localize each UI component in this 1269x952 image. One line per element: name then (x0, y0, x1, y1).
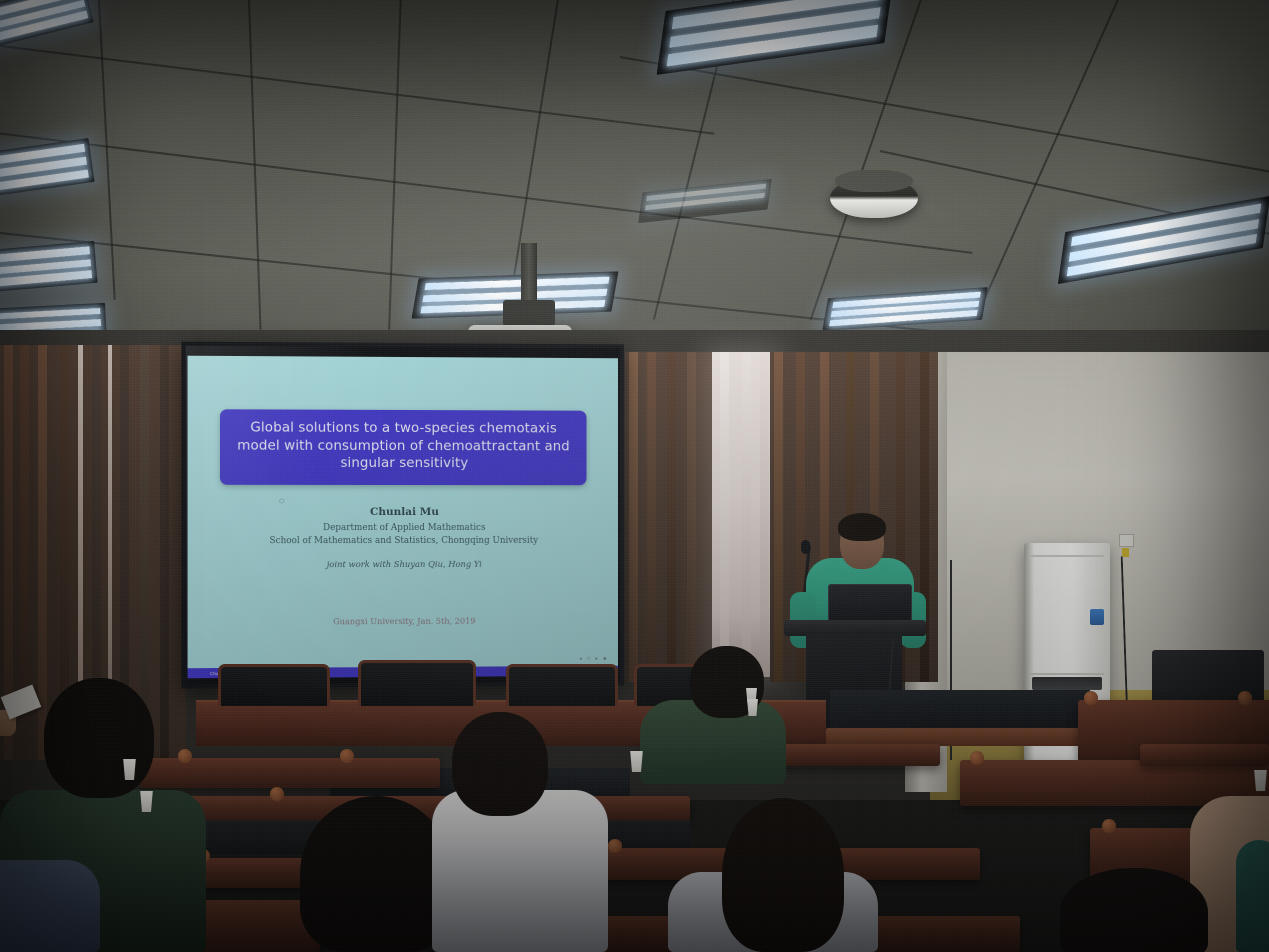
fluorescent-light-panel (0, 241, 98, 293)
fluorescent-light-panel (822, 287, 987, 331)
slide-title-box: Global solutions to a two-species chemot… (220, 409, 586, 485)
slide-navigation-bar: Introduction Main result Sketches of pro… (188, 356, 618, 359)
projection-screen: Introduction Main result Sketches of pro… (181, 342, 623, 689)
projector-mount-pole (521, 243, 537, 303)
bench-row[interactable] (1140, 744, 1269, 766)
fluorescent-light-panel (412, 271, 619, 318)
ceiling (0, 0, 1269, 372)
bench-row[interactable] (140, 758, 440, 788)
ceiling-speaker-dome (830, 178, 918, 218)
slide-affiliation-line-1: Department of Applied Mathematics (188, 522, 618, 535)
bench-row[interactable] (170, 796, 690, 822)
front-row-chair[interactable] (218, 664, 330, 706)
curtain-center (625, 352, 715, 682)
lecture-hall-photo: Introduction Main result Sketches of pro… (0, 0, 1269, 952)
slide-nav-dots[interactable]: ◂ □ ▸ ■ (579, 656, 608, 662)
microphone-icon (801, 540, 810, 554)
slide-title: Global solutions to a two-species chemot… (232, 419, 574, 473)
projector-mount-bracket (503, 300, 555, 326)
wall-power-outlet[interactable] (1119, 534, 1134, 547)
presentation-slide: Introduction Main result Sketches of pro… (188, 356, 618, 679)
slide-venue-date: Guangxi University, Jan. 5th, 2019 (188, 615, 618, 627)
fluorescent-light-panel (1058, 196, 1269, 284)
slide-affiliation-line-2: School of Mathematics and Statistics, Ch… (188, 534, 618, 547)
fluorescent-light-panel (657, 0, 894, 75)
slide-joint-work: joint work with Shuyan Qiu, Hong Yi (188, 559, 618, 570)
slide-author-name: Chunlai Mu (188, 506, 618, 518)
curtain-sheer-window (712, 352, 774, 677)
presenter-hair (838, 513, 886, 541)
nav-bar-accent (456, 356, 618, 359)
fluorescent-light-panel (0, 0, 93, 49)
fluorescent-light-panel (638, 179, 772, 223)
fluorescent-light-panel (0, 138, 94, 198)
slide-author-block: Chunlai Mu Department of Applied Mathema… (188, 506, 618, 570)
front-row-chair[interactable] (506, 664, 618, 706)
ac-label-badge (1090, 609, 1104, 625)
slide-bullet-mark: ⬡ (279, 498, 284, 505)
front-row-chair[interactable] (358, 660, 476, 706)
